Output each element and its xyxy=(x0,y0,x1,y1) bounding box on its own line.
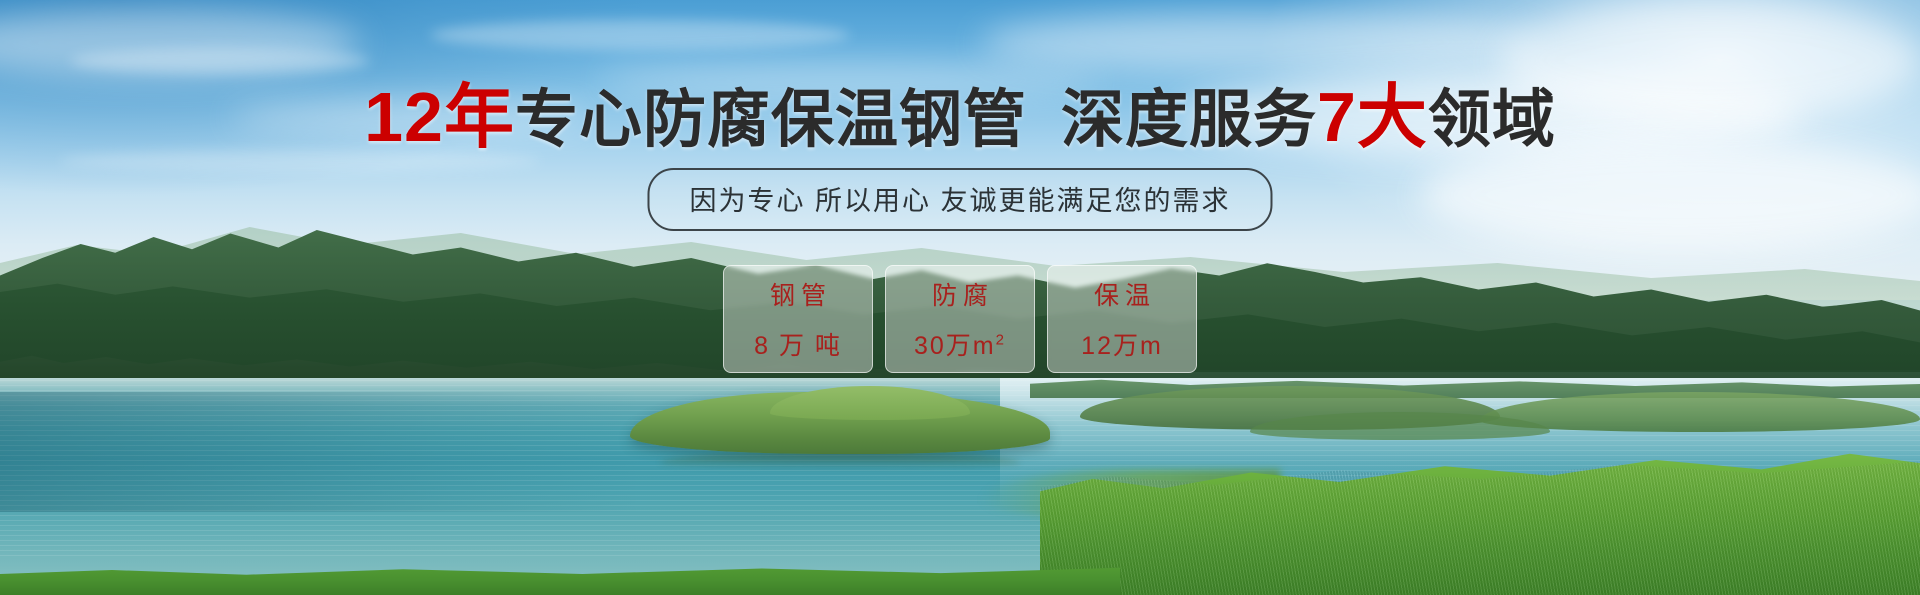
cloud-shape xyxy=(70,48,370,74)
headline-fields: 领域 xyxy=(1428,85,1556,155)
headline-years: 12年 xyxy=(364,78,515,156)
stat-card-insulation[interactable]: 保温 12万m xyxy=(1047,265,1197,373)
headline-specialty: 专心防腐保温钢管 xyxy=(515,85,1027,155)
stat-value-main: 8 万 吨 xyxy=(754,332,842,360)
tagline-pill: 因为专心 所以用心 友诚更能满足您的需求 xyxy=(647,168,1272,231)
water-shadow-left xyxy=(0,392,640,512)
stat-card-value: 8 万 吨 xyxy=(754,326,842,362)
stat-card-value: 30万m2 xyxy=(914,326,1006,362)
stat-card-anticorrosion[interactable]: 防腐 30万m2 xyxy=(885,265,1035,373)
cloud-shape xyxy=(430,20,850,50)
stat-card-steel-pipe[interactable]: 钢管 8 万 吨 xyxy=(723,265,873,373)
headline-field-count: 7大 xyxy=(1317,78,1428,156)
stat-value-main: 12万m xyxy=(1081,332,1163,360)
stat-card-label: 保温 xyxy=(1088,276,1156,312)
cloud-shape xyxy=(980,12,1540,72)
stat-value-main: 30万m xyxy=(914,332,996,360)
headline: 12年专心防腐保温钢管深度服务7大领域 xyxy=(0,82,1920,152)
stat-card-group: 钢管 8 万 吨 防腐 30万m2 保温 12万m xyxy=(723,265,1197,373)
stat-card-value: 12万m xyxy=(1081,326,1163,362)
stat-card-label: 钢管 xyxy=(764,276,832,312)
stat-value-superscript: 2 xyxy=(996,332,1006,349)
hero-banner: 12年专心防腐保温钢管深度服务7大领域 因为专心 所以用心 友诚更能满足您的需求… xyxy=(0,0,1920,595)
cloud-shape xyxy=(1420,140,1920,250)
stat-card-label: 防腐 xyxy=(926,276,994,312)
island-reflection xyxy=(660,452,1020,470)
headline-service: 深度服务 xyxy=(1061,85,1317,155)
